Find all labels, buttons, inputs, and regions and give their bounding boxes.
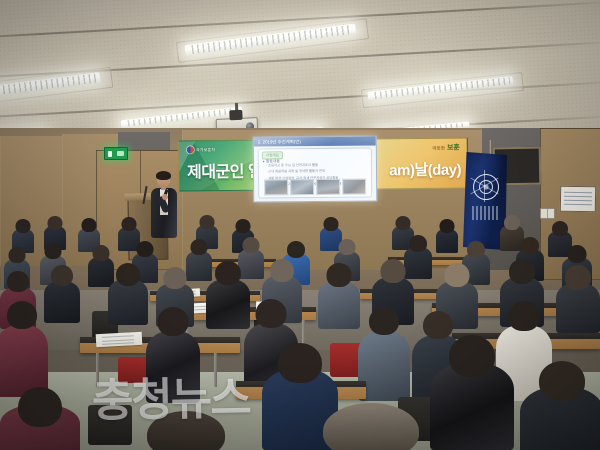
person-head	[509, 259, 535, 284]
slide-header-bar: 2. 2019년 추진계획(안)	[254, 136, 376, 146]
person-head	[539, 361, 585, 401]
person-head	[122, 217, 137, 231]
person-head	[552, 221, 568, 236]
person-head	[236, 219, 251, 233]
person-head	[7, 301, 37, 329]
bohun-slogan-large: 보훈	[447, 143, 460, 153]
person-head	[16, 219, 31, 233]
notice-line	[564, 204, 592, 205]
person-head	[270, 259, 294, 282]
person-head	[287, 241, 305, 258]
speaker-hair	[156, 171, 171, 180]
person-head-bald	[445, 263, 470, 287]
person-head	[51, 265, 73, 286]
audience-member	[556, 265, 600, 333]
audience-member	[318, 263, 360, 329]
slide-photo	[316, 179, 341, 195]
person-head	[116, 263, 140, 286]
person-head	[565, 265, 591, 290]
paper-line	[101, 335, 133, 338]
person-head-with-cap	[521, 237, 539, 254]
person-head	[164, 267, 187, 289]
person-head	[278, 343, 322, 383]
person-head	[324, 217, 339, 231]
person-head	[409, 235, 427, 252]
notice-line	[564, 196, 592, 197]
notice-line	[564, 200, 592, 201]
person-head	[449, 335, 495, 377]
person-head	[504, 215, 520, 230]
audience-member	[44, 265, 80, 323]
bohun-slogan-small: 따뜻한	[432, 146, 444, 152]
person-head	[7, 271, 29, 292]
person-head	[93, 245, 110, 261]
slide-header-title: 2. 2019년 추진계획(안)	[258, 139, 301, 145]
person-head	[243, 237, 260, 253]
person-body	[556, 283, 600, 333]
person-head	[508, 301, 540, 331]
audience-member-foreground	[520, 361, 600, 450]
flag-emblem-icon	[473, 174, 499, 200]
bohun-slogan: 따뜻한 보훈	[432, 143, 459, 153]
person-body-fur-hood	[318, 281, 360, 329]
emergency-exit-sign-icon	[104, 147, 128, 160]
handout-paper	[96, 332, 143, 347]
audience-member	[436, 219, 458, 253]
slide-bullet: · 교내 체험학습 지원 및 취약한 활동자 관리	[266, 170, 367, 174]
person-head	[568, 245, 587, 263]
audience-member-foreground	[430, 335, 514, 450]
person-head	[339, 239, 356, 255]
slide-photo	[290, 179, 315, 195]
photograph-conference-hall: 국가보훈처 제대군인 일 am)날(day) 따뜻한 보훈 2. 2019년 추…	[0, 0, 600, 450]
person-head	[48, 216, 63, 230]
government-logo-label: 국가보훈처	[196, 147, 215, 153]
slide-content-box: 사업개요 ▸ 활동내용 · 초등학교 등 주요 길 안전지도사 활동 · 교내 …	[258, 148, 372, 199]
audience-area	[0, 215, 600, 450]
person-head	[137, 241, 154, 257]
person-head-grey-hair	[323, 403, 419, 450]
person-head	[200, 215, 215, 229]
person-head	[191, 239, 208, 255]
person-head	[158, 307, 189, 336]
slide-photo-strip	[264, 179, 366, 196]
projector-mount	[229, 110, 242, 121]
person-head	[440, 219, 455, 233]
news-watermark: 충청뉴스	[92, 371, 243, 430]
person-head	[256, 299, 287, 328]
slide-bullet: · 초등학교 등 주요 길 안전지도사 활동	[266, 164, 367, 168]
person-head	[396, 216, 411, 230]
slide-photo	[342, 179, 367, 195]
person-head	[82, 218, 97, 232]
person-head	[369, 307, 399, 335]
speaker-hand	[162, 194, 168, 200]
taegeuk-icon	[187, 146, 194, 153]
person-head	[45, 243, 62, 259]
person-head	[467, 241, 485, 258]
notice-line	[564, 192, 592, 193]
audience-member-foreground	[0, 387, 80, 450]
slide-photo	[264, 179, 289, 195]
audience-member	[108, 263, 148, 325]
audience-member-foreground	[316, 403, 426, 450]
paper-line	[102, 342, 134, 345]
wall-notice-frame	[560, 186, 596, 213]
person-head	[327, 263, 352, 287]
banner-title-right: am)날(day)	[389, 159, 461, 181]
person-head	[381, 259, 406, 283]
government-logo: 국가보훈처	[187, 146, 215, 153]
banner-title-left: 제대군인 일	[187, 158, 262, 183]
projection-screen: 2. 2019년 추진계획(안) 사업개요 ▸ 활동내용 · 초등학교 등 주요…	[253, 135, 378, 202]
person-head	[18, 387, 62, 427]
person-body	[44, 281, 80, 323]
audience-member	[0, 301, 48, 397]
person-head	[9, 247, 26, 263]
person-head	[215, 261, 241, 285]
